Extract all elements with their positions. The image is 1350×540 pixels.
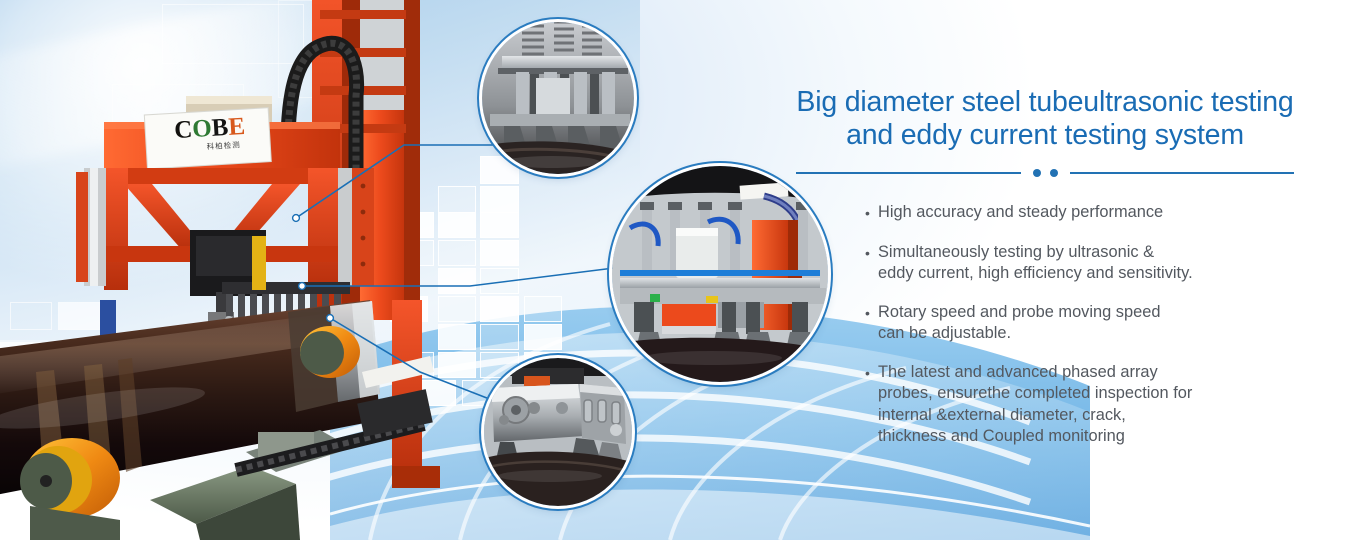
divider-dot-1 — [1033, 169, 1041, 177]
text-content-pane: Big diameter steel tubeultrasonic testin… — [760, 86, 1330, 465]
list-item: • Simultaneously testing by ultrasonic &… — [865, 242, 1330, 285]
divider-dots — [1033, 169, 1058, 177]
divider-rule-left — [796, 172, 1021, 174]
logo-letter-o: O — [192, 115, 213, 143]
bullet-marker-icon: • — [865, 302, 878, 345]
list-item-text: The latest and advanced phased array pro… — [878, 362, 1192, 448]
list-item: • The latest and advanced phased array p… — [865, 362, 1330, 448]
main-machine-photo: COBE 科柏检测 — [0, 0, 440, 540]
page-title: Big diameter steel tubeultrasonic testin… — [760, 86, 1330, 152]
logo-letter-e: E — [228, 113, 246, 141]
promo-banner: COBE 科柏检测 — [0, 0, 1350, 540]
feature-list: • High accuracy and steady performance •… — [865, 202, 1330, 448]
title-divider — [796, 166, 1294, 180]
divider-dot-2 — [1050, 169, 1058, 177]
bullet-marker-icon: • — [865, 362, 878, 448]
bullet-marker-icon: • — [865, 242, 878, 285]
cobe-logo: COBE 科柏检测 — [151, 113, 269, 156]
list-item-text: Simultaneously testing by ultrasonic & e… — [878, 242, 1193, 285]
list-item: • Rotary speed and probe moving speed ca… — [865, 302, 1330, 345]
logo-letter-c: C — [173, 116, 193, 144]
bullet-marker-icon: • — [865, 202, 878, 225]
list-item-text: Rotary speed and probe moving speed can … — [878, 302, 1160, 345]
list-item-text: High accuracy and steady performance — [878, 202, 1163, 225]
logo-letter-b: B — [211, 114, 229, 142]
divider-rule-right — [1070, 172, 1295, 174]
inset-photo-probe-array — [482, 22, 634, 174]
inset-photo-probe-clamp — [484, 358, 632, 506]
list-item: • High accuracy and steady performance — [865, 202, 1330, 225]
